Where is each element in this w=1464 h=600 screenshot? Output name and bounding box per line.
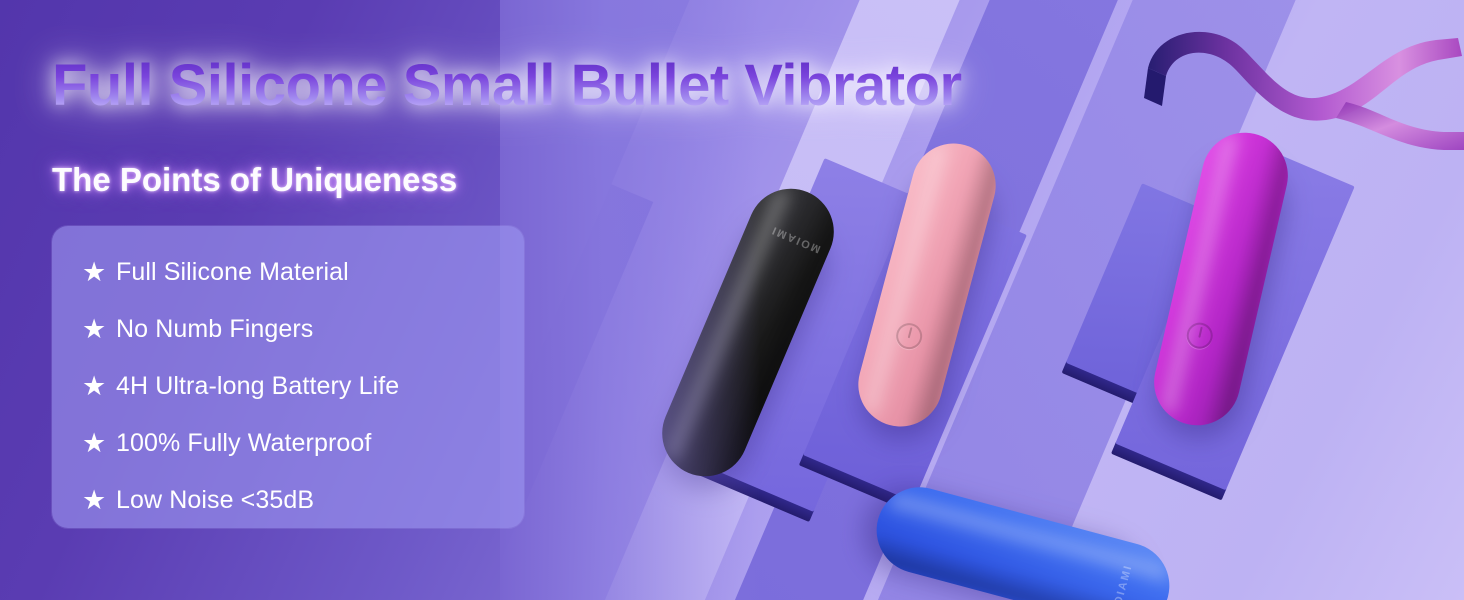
- banner-title: Full Silicone Small Bullet Vibrator: [52, 57, 962, 115]
- feature-label: Low Noise <35dB: [116, 486, 314, 515]
- list-item: ★ Full Silicone Material: [82, 244, 512, 301]
- list-item: ★ No Numb Fingers: [82, 301, 512, 358]
- star-icon: ★: [82, 430, 116, 457]
- list-item: ★ 100% Fully Waterproof: [82, 415, 512, 472]
- feature-label: No Numb Fingers: [116, 315, 313, 344]
- features-list: ★ Full Silicone Material ★ No Numb Finge…: [82, 244, 512, 529]
- features-card: ★ Full Silicone Material ★ No Numb Finge…: [52, 226, 524, 528]
- star-icon: ★: [82, 373, 116, 400]
- list-item: ★ 4H Ultra-long Battery Life: [82, 358, 512, 415]
- satin-ribbon: [1140, 10, 1464, 170]
- star-icon: ★: [82, 316, 116, 343]
- feature-label: 100% Fully Waterproof: [116, 429, 371, 458]
- product-banner: MOIAMI MOIAMI: [0, 0, 1464, 600]
- banner-subtitle: The Points of Uniqueness: [52, 163, 457, 196]
- feature-label: 4H Ultra-long Battery Life: [116, 372, 399, 401]
- feature-label: Full Silicone Material: [116, 258, 349, 287]
- list-item: ★ Low Noise <35dB: [82, 472, 512, 529]
- star-icon: ★: [82, 259, 116, 286]
- star-icon: ★: [82, 487, 116, 514]
